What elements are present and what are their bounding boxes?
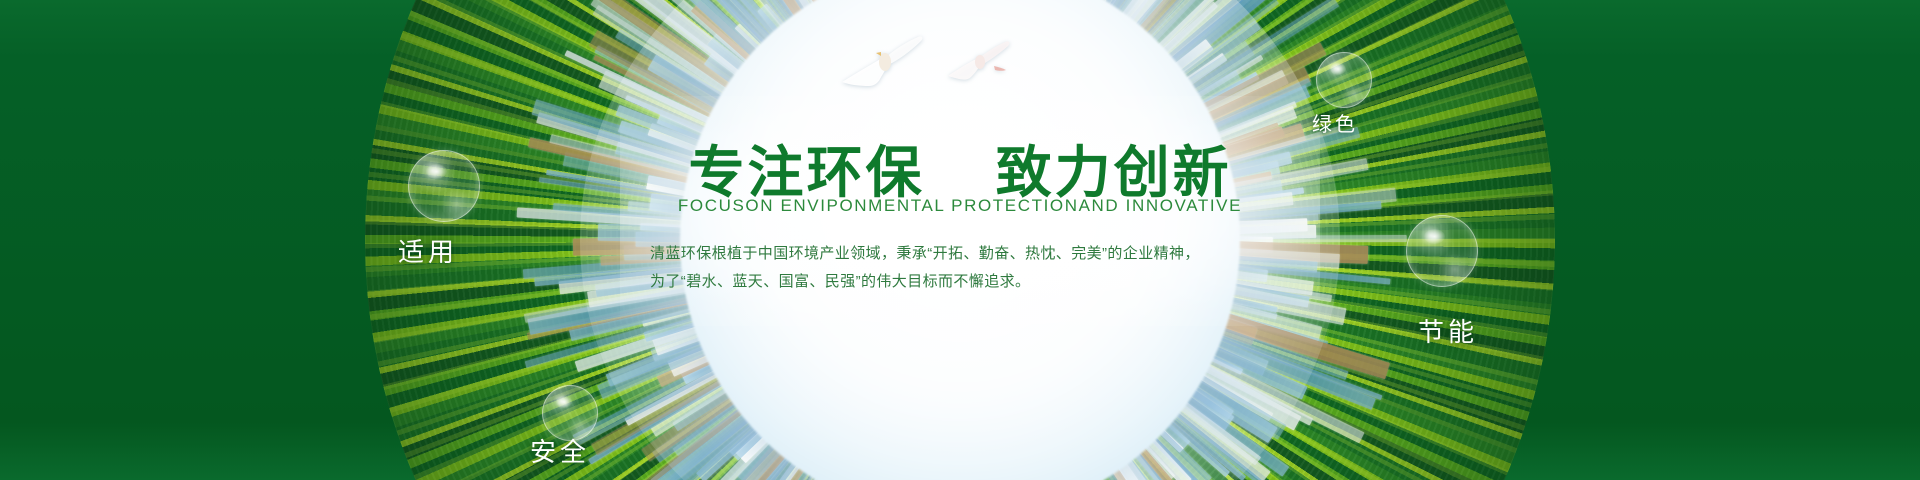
hero-banner: 适用 安全 绿色 节能 专注环保 致力创新 FOCUSON ENVIPONMEN… — [0, 0, 1920, 480]
keyword-label-energy-saving: 节能 — [1418, 312, 1478, 349]
keyword-label-safety: 安全 — [530, 432, 590, 469]
keyword-label-green: 绿色 — [1312, 108, 1358, 137]
bubble-green — [1316, 52, 1372, 108]
bubble-applicable — [408, 150, 480, 222]
seagull-icon-right — [942, 36, 1014, 84]
bubble-energy-saving — [1406, 215, 1478, 287]
keyword-label-applicable: 适用 — [398, 232, 458, 269]
seagull-icon-left — [838, 32, 924, 92]
